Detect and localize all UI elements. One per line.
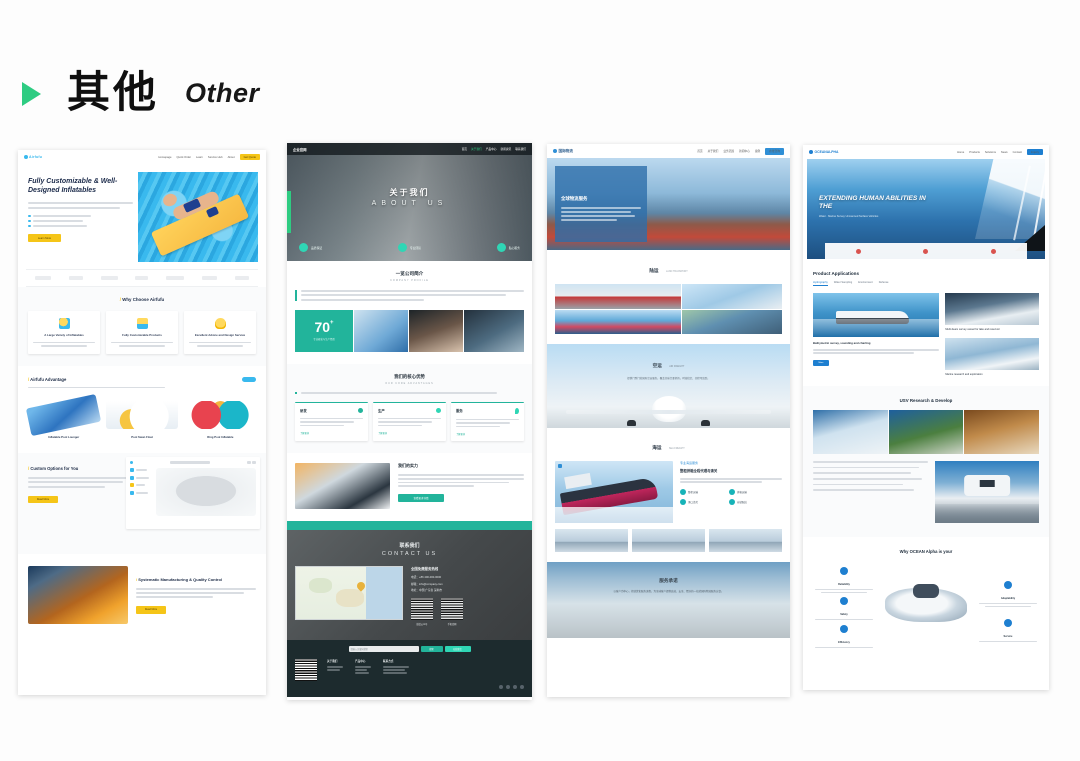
site4-navbar[interactable]: OCEANALPHA Home Products Solutions News … <box>803 145 1049 159</box>
safety-icon <box>923 249 928 254</box>
site4-hero-image: EXTENDING HUMAN ABILITIES IN THE Water ·… <box>807 159 1045 259</box>
site3-transport-gallery <box>555 284 782 334</box>
site2-navbar[interactable]: 企业官网 首页 关于我们 产品中心 新闻资讯 联系我们 <box>287 143 532 155</box>
site4-feature-item: Reliability <box>815 562 873 593</box>
site3-ship-image <box>555 461 673 523</box>
catalog-icon <box>59 318 70 329</box>
site1-nav-links[interactable]: Homepage Quick Order Learn Service Hub A… <box>158 154 260 160</box>
wechat-icon <box>499 685 503 689</box>
site3-airplane-image <box>547 390 790 428</box>
site1-manufacturing-cta[interactable]: Read More <box>136 606 166 614</box>
site4-app-card-side[interactable]: Multi-beam survey vessel for lake and re… <box>945 293 1039 331</box>
site2-message-button[interactable]: 在线留言 <box>445 646 471 652</box>
site1-section-title-why: / Why Choose Airfufu <box>28 297 256 302</box>
site1-feature-card[interactable]: Fully Customizable Products <box>106 311 178 354</box>
site1-navbar[interactable]: Airfufu Homepage Quick Order Learn Servi… <box>18 150 266 164</box>
site3-navbar[interactable]: 国际物流 首页 关于我们 业务范围 新闻中心 案例 在线咨询 <box>547 144 790 158</box>
site4-hero-title: EXTENDING HUMAN ABILITIES IN THE <box>819 195 939 211</box>
site1-feature-card[interactable]: A Large Variety of Inflatables <box>28 311 100 354</box>
site4-section-title-apps: Product Applications <box>813 271 1039 276</box>
site1-feature-card[interactable]: Excellent Advice and Design Service <box>184 311 256 354</box>
site4-research-main-image <box>935 461 1039 523</box>
site1-product-item[interactable]: Ring Pool Inflatable <box>185 401 256 439</box>
site4-section-title-research: USV Research & Develop <box>813 398 1039 403</box>
site1-product-item[interactable]: Pool Swan Float <box>106 401 177 439</box>
site2-stat-block: 70+ 专业研发与生产经验 <box>295 310 353 352</box>
site3-logo: 国际物流 <box>553 149 573 154</box>
weibo-icon <box>506 685 510 689</box>
site1-carousel-toggle[interactable] <box>242 377 256 382</box>
site2-contact-title-en: CONTACT US <box>295 551 524 557</box>
site1-logo: Airfufu <box>24 155 42 159</box>
site1-section-title-advantage: / Airfufu Advantage <box>28 377 66 382</box>
site4-hero-subtitle: Water · Marine Survey Unmanned Surface V… <box>819 215 939 218</box>
site1-logo-strip <box>26 269 258 287</box>
survey-icon <box>856 249 861 254</box>
site4-hero-stats <box>825 243 1027 259</box>
site4-app-more-button[interactable]: More <box>813 360 829 366</box>
site3-cta-button[interactable]: 在线咨询 <box>765 148 784 155</box>
qq-icon <box>513 685 517 689</box>
slide-canvas: 其他 Other Airfufu Homepage Quick Order Le… <box>0 0 1080 761</box>
site2-gallery: 70+ 专业研发与生产经验 <box>295 310 524 352</box>
site3-promise-section: 服务承诺 以客户为中心，持续优化服务流程，为全球客户提供高效、安全、经济的一站式… <box>547 562 790 638</box>
support-icon <box>991 249 996 254</box>
site1-product-image <box>106 401 177 429</box>
site4-feature-item: Safety <box>815 592 873 620</box>
site1-hero-cta[interactable]: Learn More <box>28 234 61 242</box>
check-circle-icon <box>1004 581 1012 589</box>
site3-ship-thumbs[interactable] <box>555 529 782 552</box>
site2-advantage-card[interactable]: 服务 了解更多 <box>451 402 524 442</box>
mobile-qr-code <box>441 598 463 620</box>
site2-footer-qr <box>295 659 317 681</box>
check-circle-icon <box>840 625 848 633</box>
check-circle-icon <box>840 567 848 575</box>
site2-strength-cta[interactable]: 查看更多详情 <box>398 494 444 502</box>
site2-hero-features: 品质保证 专业团队 贴心服务 <box>299 243 520 252</box>
email-icon <box>520 685 524 689</box>
thumbnail-logistics-site[interactable]: 国际物流 首页 关于我们 业务范围 新闻中心 案例 在线咨询 全球物流服务 <box>547 144 790 697</box>
site4-feature-item: Adaptability <box>979 576 1037 607</box>
leaf-icon <box>515 408 519 414</box>
site2-hero-title-cn: 关于我们 <box>287 187 532 198</box>
site3-air-section: 空运 AIR FREIGHT 提供门到门的国际空运服务，覆盖全球主要机场，时效稳… <box>547 344 790 428</box>
lightbulb-icon <box>215 318 226 329</box>
site2-hero: 企业官网 首页 关于我们 产品中心 新闻资讯 联系我们 关于我们 ABOUT U… <box>287 143 532 261</box>
site1-hero-title: Fully Customizable & Well-Designed Infla… <box>28 178 133 195</box>
site1-factory-image <box>28 566 128 624</box>
site4-cta-button[interactable]: Inquiry <box>1027 149 1043 155</box>
flask-icon <box>436 408 441 413</box>
site4-research-gallery <box>813 410 1039 454</box>
site2-social-icons[interactable] <box>295 685 524 689</box>
check-circle-icon <box>840 597 848 605</box>
site2-side-accent <box>287 191 291 233</box>
thumbnail-about-us-site[interactable]: 企业官网 首页 关于我们 产品中心 新闻资讯 联系我们 关于我们 ABOUT U… <box>287 143 532 700</box>
gear-icon <box>358 408 363 413</box>
factory-icon <box>137 318 148 329</box>
site2-section-title-advantages: 我们的核心优势 <box>295 374 524 380</box>
site1-cta-button[interactable]: Get Quote <box>240 154 260 160</box>
site4-section-title-why: Why OCEAN Alpha is your <box>813 549 1039 554</box>
site4-feature-item: Service <box>979 614 1037 642</box>
site1-section-title-custom: / Custom Options for You <box>28 466 138 471</box>
thumbnail-inflatables-site[interactable]: Airfufu Homepage Quick Order Learn Servi… <box>18 150 266 695</box>
site1-product-image <box>185 401 256 429</box>
thumbnail-grid: Airfufu Homepage Quick Order Learn Servi… <box>0 0 1080 761</box>
site3-hero-panel: 全球物流服务 <box>555 166 647 242</box>
site1-section-title-manufacturing: / Systematic Manufacturing & Quality Con… <box>136 577 256 582</box>
site1-product-item[interactable]: Inflatable Pool Lounger <box>28 401 99 439</box>
site4-app-card-side[interactable]: Marine research and exploration <box>945 338 1039 376</box>
site2-search-input[interactable]: 请输入关键词搜索 <box>349 646 419 652</box>
site1-model-editor[interactable] <box>126 457 260 529</box>
site2-hero-title-en: ABOUT US <box>287 200 532 207</box>
site1-custom-cta[interactable]: Read More <box>28 496 58 504</box>
site1-3d-model <box>156 468 256 516</box>
site2-map[interactable] <box>295 566 403 620</box>
wechat-qr-code <box>411 598 433 620</box>
check-circle-icon <box>1004 619 1012 627</box>
site4-feature-item: Efficiency <box>815 620 873 648</box>
thumbnail-usv-site[interactable]: OCEANALPHA Home Products Solutions News … <box>803 145 1049 690</box>
site2-advantage-card[interactable]: 研发 了解更多 <box>295 402 368 442</box>
site2-advantage-card[interactable]: 生产 了解更多 <box>373 402 446 442</box>
site1-product-image <box>26 394 102 436</box>
site4-logo: OCEANALPHA <box>809 150 838 154</box>
site4-tabs[interactable]: Hydrography Water Sampling Environment D… <box>813 281 1039 286</box>
site2-search-button[interactable]: 搜索 <box>421 646 443 652</box>
site2-section-title-strength: 我们的实力 <box>398 463 524 469</box>
site2-strength-image <box>295 463 390 509</box>
site1-hero-image <box>138 172 258 262</box>
site2-section-title-profile: 一览公司简介 <box>295 271 524 277</box>
site3-hero-image: 全球物流服务 <box>547 158 790 250</box>
site2-contact-title-cn: 联系我们 <box>295 542 524 549</box>
site4-app-card-main[interactable]: Bathymetric survey, sounding and chartin… <box>813 293 939 376</box>
